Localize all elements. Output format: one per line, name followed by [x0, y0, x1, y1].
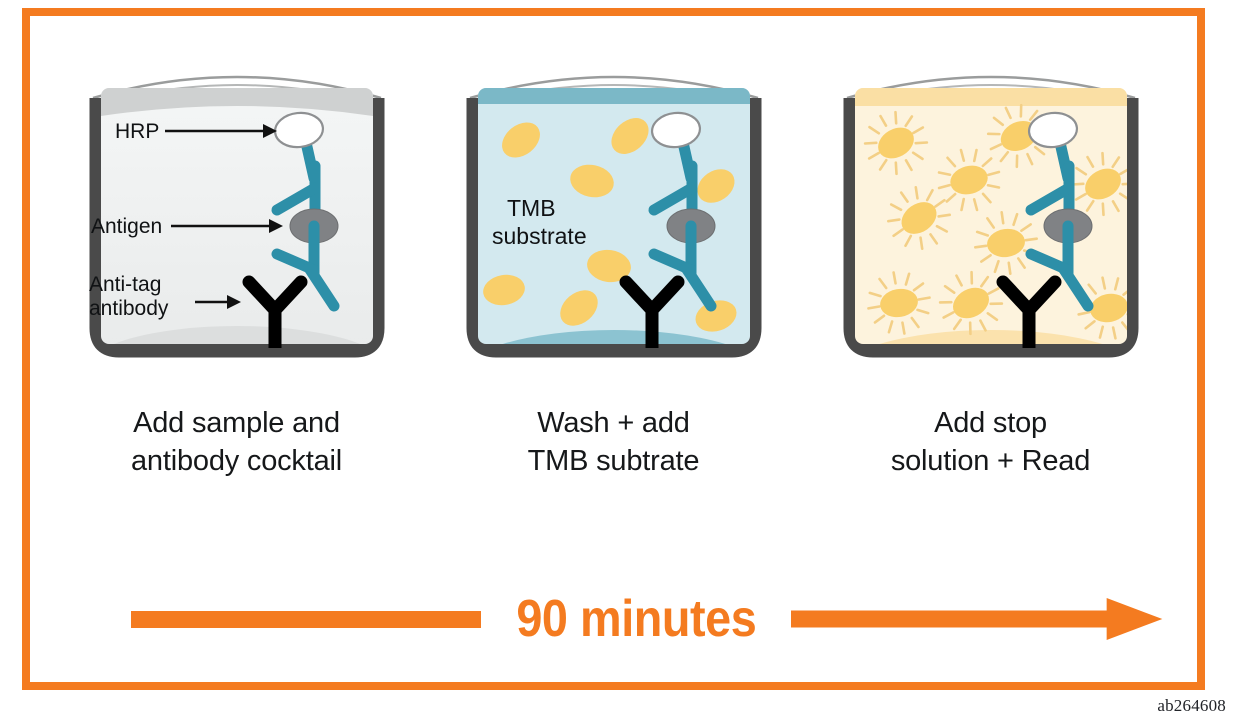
catalog-code: ab264608: [1157, 696, 1226, 716]
tmb-inline-label-line2: substrate: [492, 223, 587, 249]
steps-row: HRP Antigen Anti-tag antibody: [22, 8, 1205, 548]
well-3-illustration: [831, 58, 1151, 376]
step-1: HRP Antigen Anti-tag antibody: [72, 58, 402, 481]
well-1-illustration: HRP Antigen Anti-tag antibody: [77, 58, 397, 376]
callout-antigen-label: Antigen: [91, 215, 162, 238]
timeline: 90 minutes: [22, 576, 1205, 662]
step-1-caption: Add sample and antibody cocktail: [131, 404, 342, 481]
timeline-arrow-head: [1107, 598, 1163, 640]
timeline-duration-label: 90 minutes: [516, 593, 756, 645]
callout-hrp-label: HRP: [115, 120, 159, 143]
callout-antitag-label-line2: antibody: [89, 297, 169, 320]
step-3: Add stop solution + Read: [826, 58, 1156, 481]
step-2-caption: Wash + add TMB subtrate: [528, 404, 700, 481]
tmb-inline-label-line1: TMB: [507, 195, 556, 221]
step-2: TMB substrate Wash + add TMB subtrate: [449, 58, 779, 481]
timeline-arrow-shaft: [791, 611, 1111, 628]
well-3-container: [831, 58, 1151, 376]
meniscus-band: [841, 88, 1141, 106]
well-3-contents: [833, 88, 1149, 376]
well-2-illustration: TMB substrate: [454, 58, 774, 376]
figure-canvas: HRP Antigen Anti-tag antibody: [0, 0, 1234, 720]
meniscus-band: [464, 88, 764, 104]
timeline-inner: 90 minutes: [65, 584, 1163, 654]
step-3-caption: Add stop solution + Read: [891, 404, 1090, 481]
callout-antitag-label-line1: Anti-tag: [89, 273, 161, 296]
well-1-container: HRP Antigen Anti-tag antibody: [77, 58, 397, 376]
timeline-arrow-container: [791, 596, 1162, 642]
well-2-container: TMB substrate: [454, 58, 774, 376]
timeline-left-bar: [131, 611, 481, 628]
timeline-right-arrow: [791, 596, 1162, 642]
